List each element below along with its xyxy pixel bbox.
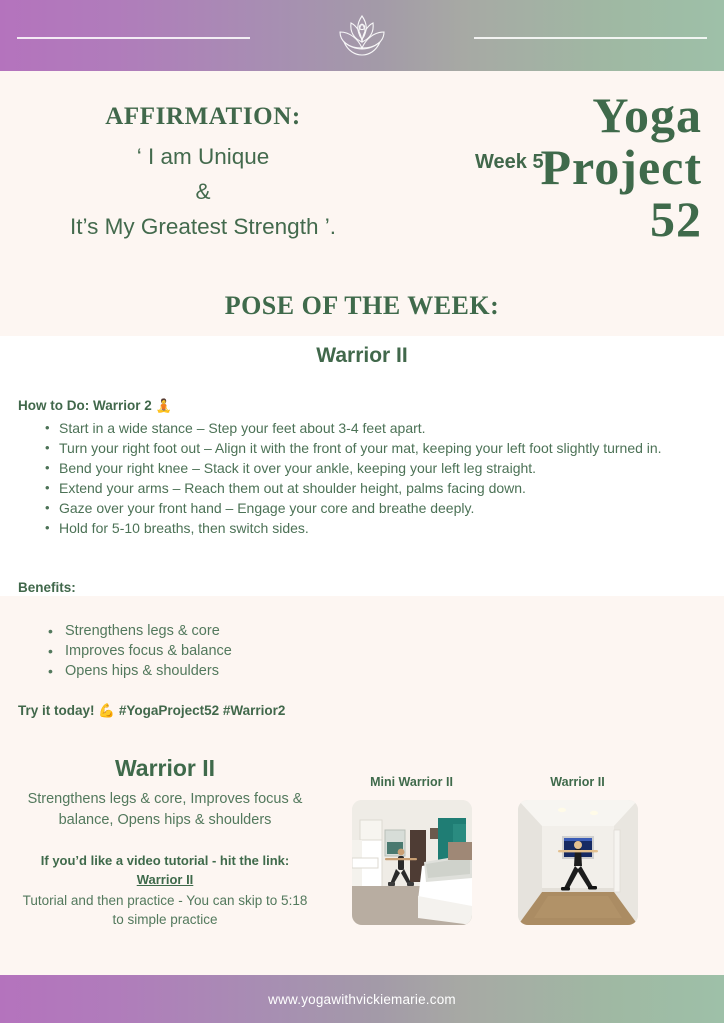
yoga-person-icon: 🧘 bbox=[156, 398, 172, 413]
photo-caption: Warrior II bbox=[510, 775, 645, 789]
tutorial-link[interactable]: Warrior II bbox=[137, 872, 194, 887]
pose-card-description: Strengthens legs & core, Improves focus … bbox=[20, 789, 310, 831]
list-item: Improves focus & balance bbox=[48, 641, 478, 661]
benefits-heading: Benefits: bbox=[18, 580, 76, 595]
list-item: Start in a wide stance – Step your feet … bbox=[45, 418, 717, 438]
flyer-page: AFFIRMATION: ‘ I am Unique & It’s My Gre… bbox=[0, 0, 724, 1023]
affirmation-heading: AFFIRMATION: bbox=[8, 103, 398, 131]
affirmation-line-3: It’s My Greatest Strength ’. bbox=[8, 209, 398, 244]
list-item: Gaze over your front hand – Engage your … bbox=[45, 498, 717, 518]
howto-heading-text: How to Do: Warrior 2 bbox=[18, 398, 152, 413]
photo-column-warrior: Warrior II bbox=[510, 775, 645, 930]
list-item: Strengthens legs & core bbox=[48, 621, 478, 641]
mini-warrior-two-photo bbox=[352, 800, 472, 925]
list-item: Extend your arms – Reach them out at sho… bbox=[45, 478, 717, 498]
pose-of-the-week-heading: POSE OF THE WEEK: bbox=[0, 291, 724, 321]
brand-line-yoga: Yoga bbox=[372, 89, 702, 141]
list-item: Opens hips & shoulders bbox=[48, 661, 478, 681]
list-item: Turn your right foot out – Align it with… bbox=[45, 438, 717, 458]
brand-line-52: 52 bbox=[372, 193, 702, 245]
lotus-icon bbox=[331, 10, 393, 62]
pose-card-title: Warrior II bbox=[20, 755, 310, 782]
call-to-action-hashtags: Try it today! 💪 #YogaProject52 #Warrior2 bbox=[18, 703, 285, 719]
howto-step-list: Start in a wide stance – Step your feet … bbox=[18, 418, 717, 538]
tutorial-prompt-text: If you’d like a video tutorial - hit the… bbox=[41, 853, 289, 868]
affirmation-line-1: ‘ I am Unique bbox=[8, 139, 398, 174]
tutorial-prompt: If you’d like a video tutorial - hit the… bbox=[20, 851, 310, 889]
list-item: Bend your right knee – Stack it over you… bbox=[45, 458, 717, 478]
hero-section: AFFIRMATION: ‘ I am Unique & It’s My Gre… bbox=[0, 71, 724, 271]
website-url[interactable]: www.yogawithvickiemarie.com bbox=[268, 992, 456, 1007]
banner-rule-left bbox=[17, 37, 250, 39]
top-gradient-banner bbox=[0, 0, 724, 71]
benefits-list: Strengthens legs & core Improves focus &… bbox=[18, 621, 478, 681]
banner-rule-right bbox=[474, 37, 707, 39]
tutorial-note: Tutorial and then practice - You can ski… bbox=[20, 891, 310, 929]
week-label: Week 5 bbox=[475, 151, 544, 174]
page-title: Warrior II bbox=[0, 344, 724, 368]
warrior-two-photo bbox=[518, 800, 638, 925]
list-item: Hold for 5-10 breaths, then switch sides… bbox=[45, 518, 717, 538]
photo-column-mini-warrior: Mini Warrior II bbox=[344, 775, 479, 930]
footer-gradient-banner: www.yogawithvickiemarie.com bbox=[0, 975, 724, 1023]
affirmation-line-2: & bbox=[8, 174, 398, 209]
howto-heading: How to Do: Warrior 2 🧘 bbox=[18, 398, 172, 414]
affirmation-block: AFFIRMATION: ‘ I am Unique & It’s My Gre… bbox=[8, 103, 398, 244]
photo-caption: Mini Warrior II bbox=[344, 775, 479, 789]
pose-summary-card: Warrior II Strengthens legs & core, Impr… bbox=[20, 755, 310, 929]
